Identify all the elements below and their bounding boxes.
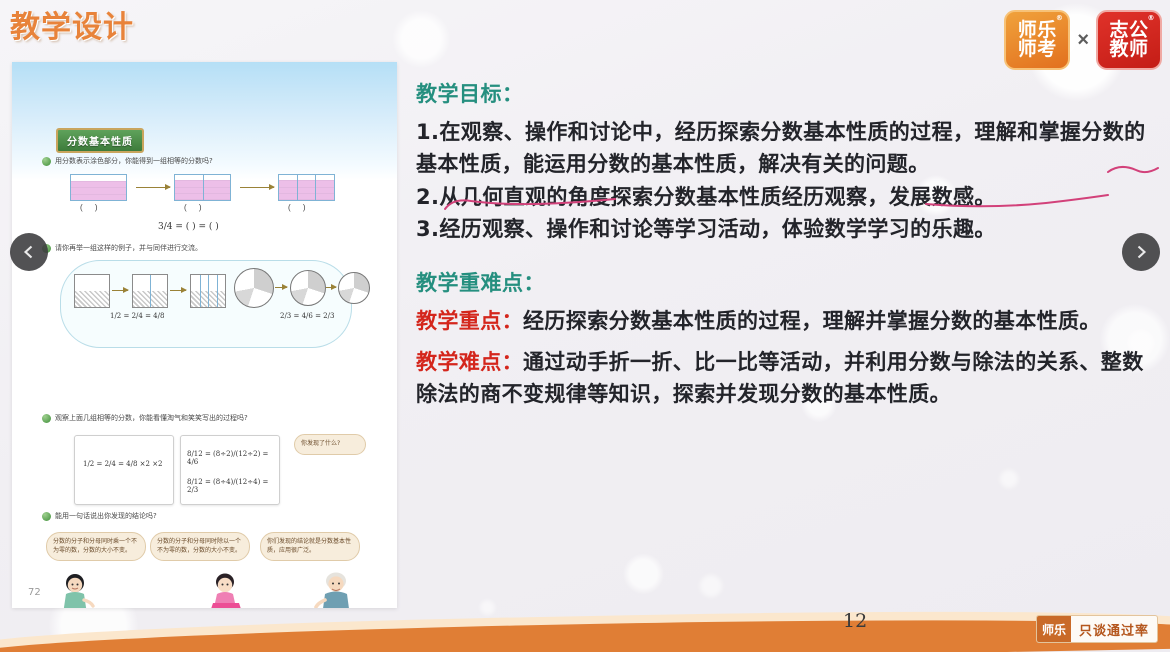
- circle-model-3: [338, 272, 370, 304]
- strip-divider: [203, 175, 204, 200]
- logo-shile-shikao: ® 师乐 师考: [1004, 10, 1070, 70]
- prev-slide-button[interactable]: [10, 233, 48, 271]
- character-girl: [204, 572, 248, 608]
- answer-blank-3: ( ): [288, 203, 311, 212]
- question-4-text: 能用一句话说出你发现的结论吗?: [55, 512, 157, 521]
- textbook-question-2: 请你再举一组这样的例子，并与同伴进行交流。: [42, 244, 372, 253]
- square-divider: [217, 275, 218, 307]
- brand-logos: ® 师乐 师考 × ® 志公 教师: [1004, 10, 1162, 70]
- note-right-content-1: 8/12 = (8÷2)/(12÷2) = 4/6: [187, 450, 279, 466]
- question-2-text: 请你再举一组这样的例子，并与同伴进行交流。: [55, 244, 202, 253]
- logo-separator-x: ×: [1077, 29, 1089, 52]
- thought-bubble: 你发现了什么?: [294, 434, 366, 455]
- arrow-2: [240, 187, 274, 188]
- question-1-text: 用分数表示涂色部分，你能得到一组相等的分数吗?: [55, 157, 213, 166]
- shaded-half: [75, 291, 109, 307]
- square-divider: [150, 275, 151, 307]
- lesson-content: 教学目标： 1.在观察、操作和讨论中，经历探索分数基本性质的过程，理解和掌握分数…: [416, 78, 1158, 410]
- logo-zhigong-jiaoshi: ® 志公 教师: [1096, 10, 1162, 70]
- arrow-3: [112, 290, 128, 291]
- textbook-page-number: 72: [28, 587, 41, 598]
- speech-bubble-3: 你们发现的结论就是分数基本性质，应用很广泛。: [260, 532, 360, 561]
- spacer: [416, 245, 1158, 267]
- square-model-1: [74, 274, 110, 308]
- speech-bubble-1: 分数的分子和分母同时乘一个不为零的数，分数的大小不变。: [46, 532, 146, 561]
- slide-page-number: 12: [843, 610, 867, 632]
- fraction-strip-2: [174, 174, 231, 201]
- objective-3: 3.经历观察、操作和讨论等学习活动，体验数学学习的乐趣。: [416, 213, 1158, 245]
- strip-row-filled: [279, 194, 334, 200]
- logo-orange-line2: 师考: [1018, 40, 1057, 59]
- textbook-question-1: 用分数表示涂色部分，你能得到一组相等的分数吗?: [42, 157, 372, 166]
- answer-blank-2: ( ): [184, 203, 207, 212]
- textbook-equation: 3/4 = ( ) = ( ): [158, 222, 219, 232]
- strip-divider: [297, 175, 298, 200]
- registered-mark-red: ®: [1148, 15, 1156, 22]
- page-title: 教学设计: [10, 2, 134, 46]
- difficult-point-row: 教学难点：通过动手折一折、比一比等活动，并利用分数与除法的关系、整数除法的商不变…: [416, 346, 1158, 411]
- square-divider: [200, 275, 201, 307]
- watermark-brand: 师乐: [1037, 616, 1071, 642]
- textbook-question-3: 观察上面几组相等的分数，你能看懂淘气和笑笑写出的过程吗?: [42, 414, 377, 423]
- key-difficulty-heading: 教学重难点：: [416, 267, 1158, 297]
- bullet-dot-icon: [42, 512, 51, 521]
- watermark-slogan: 只谈通过率: [1071, 620, 1157, 639]
- speech-bubble-2: 分数的分子和分母同时除以一个不为零的数，分数的大小不变。: [150, 532, 250, 561]
- arrow-6: [326, 287, 336, 288]
- note-left-content: 1/2 = 2/4 = 4/8 ×2 ×2: [83, 460, 163, 468]
- footer-bar: [0, 606, 1170, 652]
- key-point-row: 教学重点：经历探索分数基本性质的过程，理解并掌握分数的基本性质。: [416, 305, 1158, 337]
- objective-1: 1.在观察、操作和讨论中，经历探索分数基本性质的过程，理解和掌握分数的基本性质，…: [416, 116, 1158, 181]
- spacer: [416, 108, 1158, 116]
- character-teacher: [312, 570, 360, 608]
- fraction-strip-1: [70, 174, 127, 201]
- bokeh-6: [1000, 470, 1018, 488]
- arrow-1: [136, 187, 170, 188]
- character-boy: [54, 572, 98, 608]
- bullet-dot-icon: [42, 414, 51, 423]
- arrow-4: [170, 290, 186, 291]
- difficult-point-text: 通过动手折一折、比一比等活动，并利用分数与除法的关系、整数除法的商不变规律等知识…: [416, 350, 1144, 406]
- strip-row-filled: [71, 195, 126, 201]
- strip-fraction-label-1: 1/2 = 2/4 = 4/8: [110, 312, 164, 320]
- difficult-point-label: 教学难点：: [416, 350, 523, 374]
- textbook-page-image: 分数基本性质 用分数表示涂色部分，你能得到一组相等的分数吗? ( ) ( ) (…: [12, 62, 397, 608]
- bokeh-4: [700, 575, 722, 597]
- fraction-strip-3: [278, 174, 335, 201]
- note-right-content-2: 8/12 = (8÷4)/(12÷4) = 2/3: [187, 478, 279, 494]
- logo-red-line2: 教师: [1109, 40, 1148, 59]
- key-point-label: 教学重点：: [416, 309, 523, 333]
- watermark-badge-group: 师乐 只谈通过率: [1036, 615, 1158, 643]
- textbook-section-label: 分数基本性质: [56, 128, 144, 153]
- key-point-text: 经历探索分数基本性质的过程，理解并掌握分数的基本性质。: [523, 309, 1101, 333]
- note-card-xiaoxiao: 8/12 = (8÷2)/(12÷2) = 4/6 8/12 = (8÷4)/(…: [180, 435, 280, 505]
- strip-divider: [315, 175, 316, 200]
- arrow-5: [275, 287, 287, 288]
- square-model-2: [132, 274, 168, 308]
- strip-fraction-label-2: 2/3 = 4/6 = 2/3: [280, 312, 334, 320]
- objectives-heading: 教学目标：: [416, 78, 1158, 108]
- circle-model-1: [234, 268, 274, 308]
- spacer: [416, 338, 1158, 346]
- note-card-taoqi: 1/2 = 2/4 = 4/8 ×2 ×2: [74, 435, 174, 505]
- square-model-3: [190, 274, 226, 308]
- circle-model-2: [290, 270, 326, 306]
- square-divider: [208, 275, 209, 307]
- objective-2: 2.从几何直观的角度探索分数基本性质经历观察，发展数感。: [416, 181, 1158, 213]
- textbook-question-4: 能用一句话说出你发现的结论吗?: [42, 512, 372, 521]
- answer-blank-1: ( ): [80, 203, 103, 212]
- question-3-text: 观察上面几组相等的分数，你能看懂淘气和笑笑写出的过程吗?: [55, 414, 248, 423]
- registered-mark-orange: ®: [1056, 15, 1064, 22]
- spacer: [416, 297, 1158, 305]
- bullet-dot-icon: [42, 157, 51, 166]
- chevron-left-icon: [21, 244, 37, 260]
